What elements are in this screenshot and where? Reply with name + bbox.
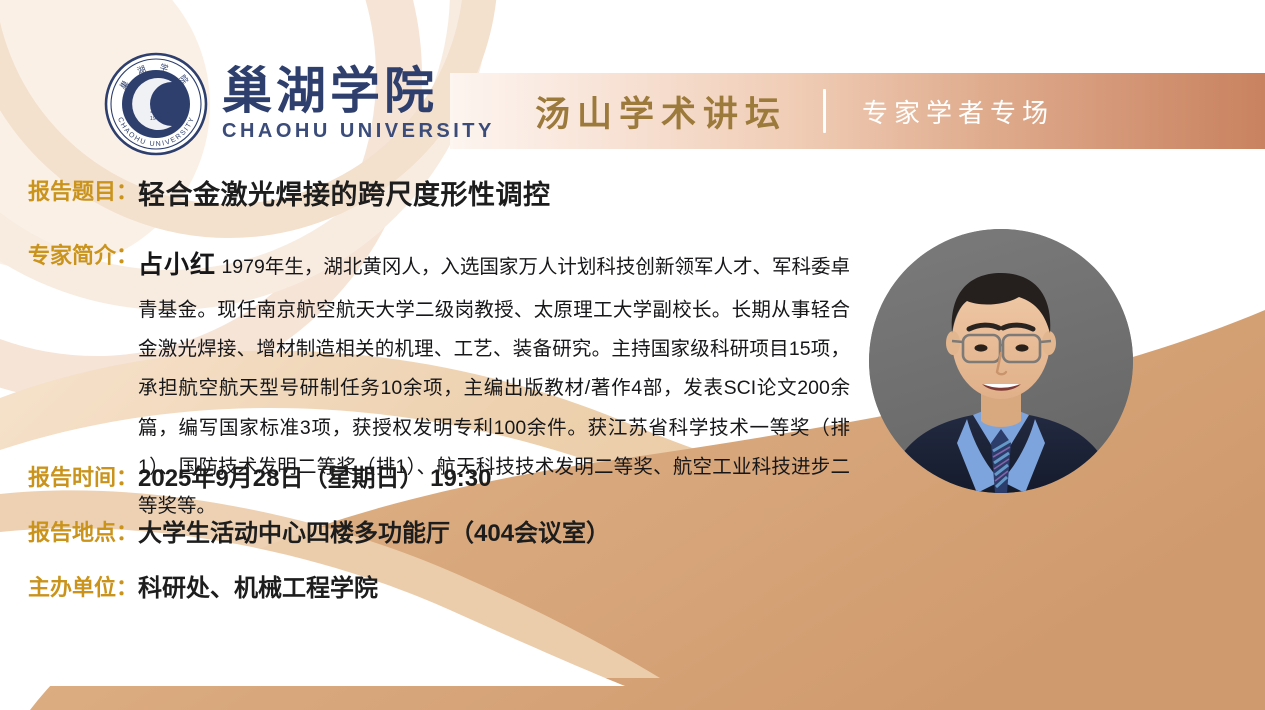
logo-name-en: CHAOHU UNIVERSITY (222, 119, 495, 143)
topic-label: 报告题目： (28, 176, 138, 208)
banner-subtitle: 专家学者专场 (862, 93, 1054, 130)
banner-title: 汤山学术讲坛 (535, 86, 787, 137)
banner-divider (823, 89, 826, 133)
place-label: 报告地点： (28, 517, 138, 549)
event-banner: 汤山学术讲坛 专家学者专场 (450, 73, 1265, 149)
university-seal-icon: 1977 巢 湖 学 院 CHAOHU UNIVERSITY (104, 52, 208, 156)
host-value: 科研处、机械工程学院 (138, 572, 378, 607)
bio-label: 专家简介： (28, 240, 138, 272)
row-place: 报告地点： 大学生活动中心四楼多功能厅（404会议室） (28, 517, 610, 552)
time-value: 2025年9月28日（星期日） 19:30 (138, 462, 491, 497)
row-host: 主办单位： 科研处、机械工程学院 (28, 572, 378, 607)
speaker-name: 占小红 (138, 251, 216, 279)
speaker-portrait-image (869, 229, 1133, 493)
row-time: 报告时间： 2025年9月28日（星期日） 19:30 (28, 462, 492, 497)
university-logo: 1977 巢 湖 学 院 CHAOHU UNIVERSITY 巢湖学院 CHAO… (104, 52, 495, 156)
svg-text:1977: 1977 (150, 116, 162, 122)
topic-value: 轻合金激光焊接的跨尺度形性调控 (138, 176, 551, 215)
logo-name-cn: 巢湖学院 (222, 65, 495, 117)
row-topic: 报告题目： 轻合金激光焊接的跨尺度形性调控 (28, 176, 551, 215)
poster-canvas: 汤山学术讲坛 专家学者专场 1977 巢 湖 学 院 CHAOHU UNIVER… (0, 0, 1265, 710)
time-label: 报告时间： (28, 462, 138, 494)
speaker-portrait (869, 229, 1133, 493)
place-value: 大学生活动中心四楼多功能厅（404会议室） (138, 517, 610, 552)
host-label: 主办单位： (28, 572, 138, 604)
